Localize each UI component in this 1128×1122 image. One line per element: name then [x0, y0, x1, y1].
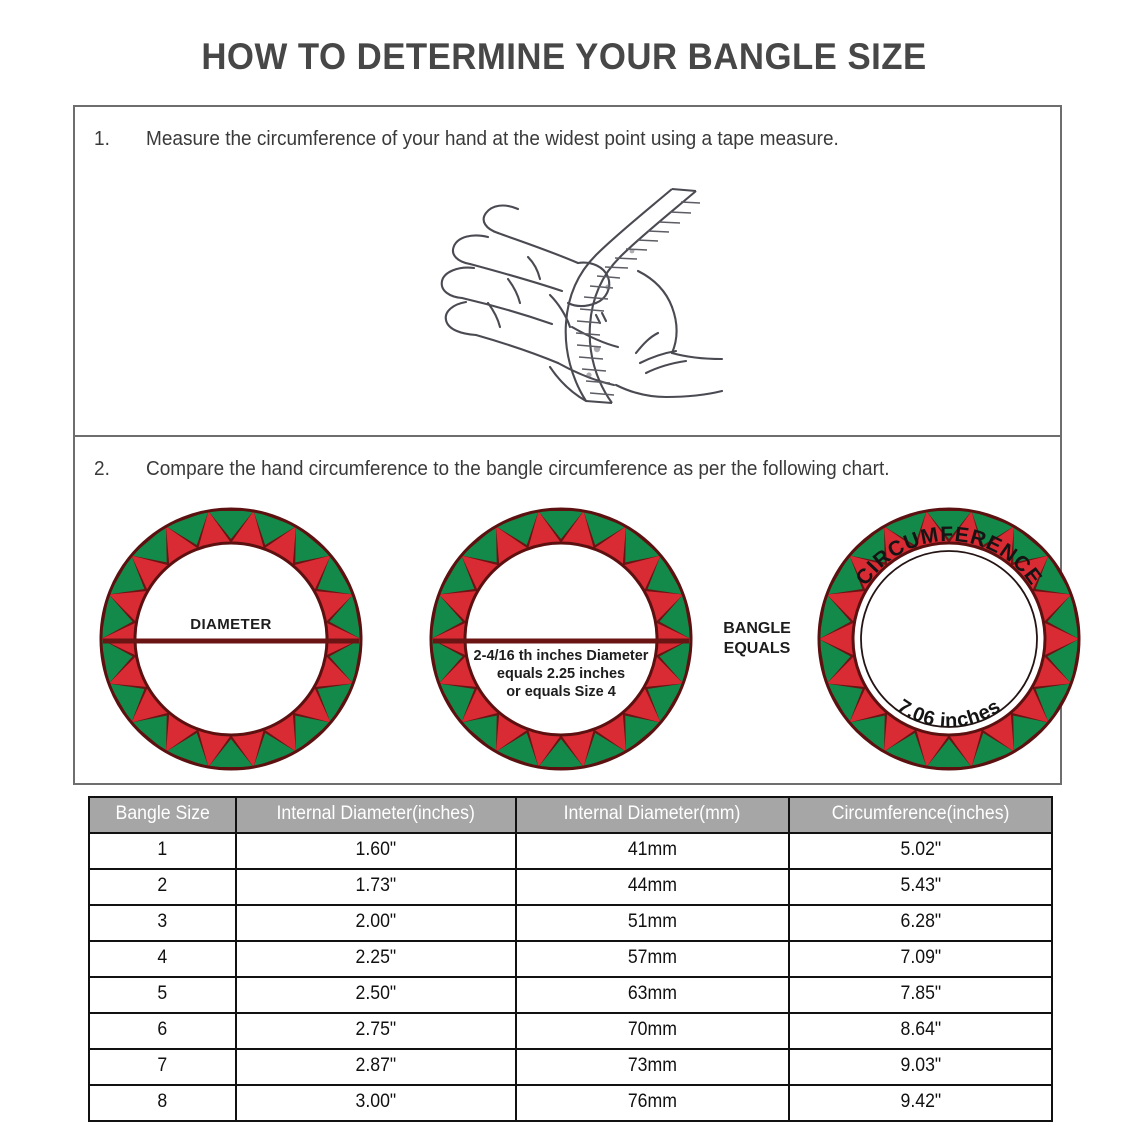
- cell-diameter-mm: 76mm: [516, 1085, 789, 1121]
- cell-bangle-size: 2: [89, 869, 236, 905]
- cell-diameter-inches: 2.75": [236, 1013, 516, 1049]
- step-1-text: Measure the circumference of your hand a…: [146, 128, 839, 151]
- cell-circumference-inches: 9.03": [789, 1049, 1052, 1085]
- bangle-equals-label: BANGLE EQUALS: [702, 619, 812, 658]
- column-header-bangle-size: Bangle Size: [89, 797, 236, 833]
- cell-circumference-inches: 7.09": [789, 941, 1052, 977]
- cell-diameter-mm: 41mm: [516, 833, 789, 869]
- hand-with-tape-measure-icon: [400, 167, 730, 429]
- cell-circumference-inches: 5.43": [789, 869, 1052, 905]
- bangle-diameter-diagram: DIAMETER: [97, 499, 365, 779]
- table-row: 1 1.60" 41mm 5.02": [89, 833, 1052, 869]
- cell-diameter-inches: 2.25": [236, 941, 516, 977]
- step-2-number: 2.: [94, 458, 143, 481]
- cell-diameter-inches: 3.00": [236, 1085, 516, 1121]
- cell-diameter-mm: 57mm: [516, 941, 789, 977]
- cell-bangle-size: 3: [89, 905, 236, 941]
- column-header-internal-diameter-mm: Internal Diameter(mm): [516, 797, 789, 833]
- step-1-section: 1. Measure the circumference of your han…: [75, 107, 1060, 437]
- table-row: 5 2.50" 63mm 7.85": [89, 977, 1052, 1013]
- cell-bangle-size: 8: [89, 1085, 236, 1121]
- cell-bangle-size: 4: [89, 941, 236, 977]
- table-row: 8 3.00" 76mm 9.42": [89, 1085, 1052, 1121]
- instructions-box: 1. Measure the circumference of your han…: [73, 105, 1062, 785]
- bangle-size-example-diagram: 2-4/16 th inches Diameter equals 2.25 in…: [427, 499, 695, 779]
- table-row: 6 2.75" 70mm 8.64": [89, 1013, 1052, 1049]
- cell-bangle-size: 6: [89, 1013, 236, 1049]
- table-row: 7 2.87" 73mm 9.03": [89, 1049, 1052, 1085]
- cell-bangle-size: 7: [89, 1049, 236, 1085]
- table-body: 1 1.60" 41mm 5.02" 2 1.73" 44mm 5.43" 3 …: [89, 833, 1052, 1121]
- cell-diameter-inches: 2.00": [236, 905, 516, 941]
- bangle-diagrams: DIAMETER 2-4: [75, 499, 1060, 779]
- bangle-size-table: Bangle Size Internal Diameter(inches) In…: [88, 796, 1053, 1122]
- cell-circumference-inches: 9.42": [789, 1085, 1052, 1121]
- cell-diameter-inches: 2.87": [236, 1049, 516, 1085]
- table-row: 2 1.73" 44mm 5.43": [89, 869, 1052, 905]
- cell-diameter-inches: 2.50": [236, 977, 516, 1013]
- cell-diameter-inches: 1.60": [236, 833, 516, 869]
- bangle-circumference-diagram: CIRCUMFERENCE 7.06 inches: [815, 499, 1083, 779]
- cell-bangle-size: 5: [89, 977, 236, 1013]
- step-2-section: 2. Compare the hand circumference to the…: [75, 437, 1060, 785]
- cell-circumference-inches: 7.85": [789, 977, 1052, 1013]
- column-header-internal-diameter-inches: Internal Diameter(inches): [236, 797, 516, 833]
- cell-circumference-inches: 8.64": [789, 1013, 1052, 1049]
- cell-diameter-mm: 73mm: [516, 1049, 789, 1085]
- step-1-row: 1. Measure the circumference of your han…: [94, 128, 875, 151]
- cell-diameter-mm: 51mm: [516, 905, 789, 941]
- cell-diameter-mm: 44mm: [516, 869, 789, 905]
- cell-circumference-inches: 6.28": [789, 905, 1052, 941]
- table-row: 4 2.25" 57mm 7.09": [89, 941, 1052, 977]
- bangle-equals-line-1: BANGLE: [702, 619, 812, 639]
- bangle-equals-line-2: EQUALS: [702, 639, 812, 659]
- page-title: HOW TO DETERMINE YOUR BANGLE SIZE: [34, 36, 1094, 78]
- step-2-row: 2. Compare the hand circumference to the…: [94, 458, 929, 481]
- cell-bangle-size: 1: [89, 833, 236, 869]
- cell-diameter-mm: 63mm: [516, 977, 789, 1013]
- step-1-number: 1.: [94, 128, 143, 151]
- column-header-circumference-inches: Circumference(inches): [789, 797, 1052, 833]
- cell-circumference-inches: 5.02": [789, 833, 1052, 869]
- step-2-text: Compare the hand circumference to the ba…: [146, 458, 890, 481]
- table-row: 3 2.00" 51mm 6.28": [89, 905, 1052, 941]
- cell-diameter-mm: 70mm: [516, 1013, 789, 1049]
- cell-diameter-inches: 1.73": [236, 869, 516, 905]
- table-header-row: Bangle Size Internal Diameter(inches) In…: [89, 797, 1052, 833]
